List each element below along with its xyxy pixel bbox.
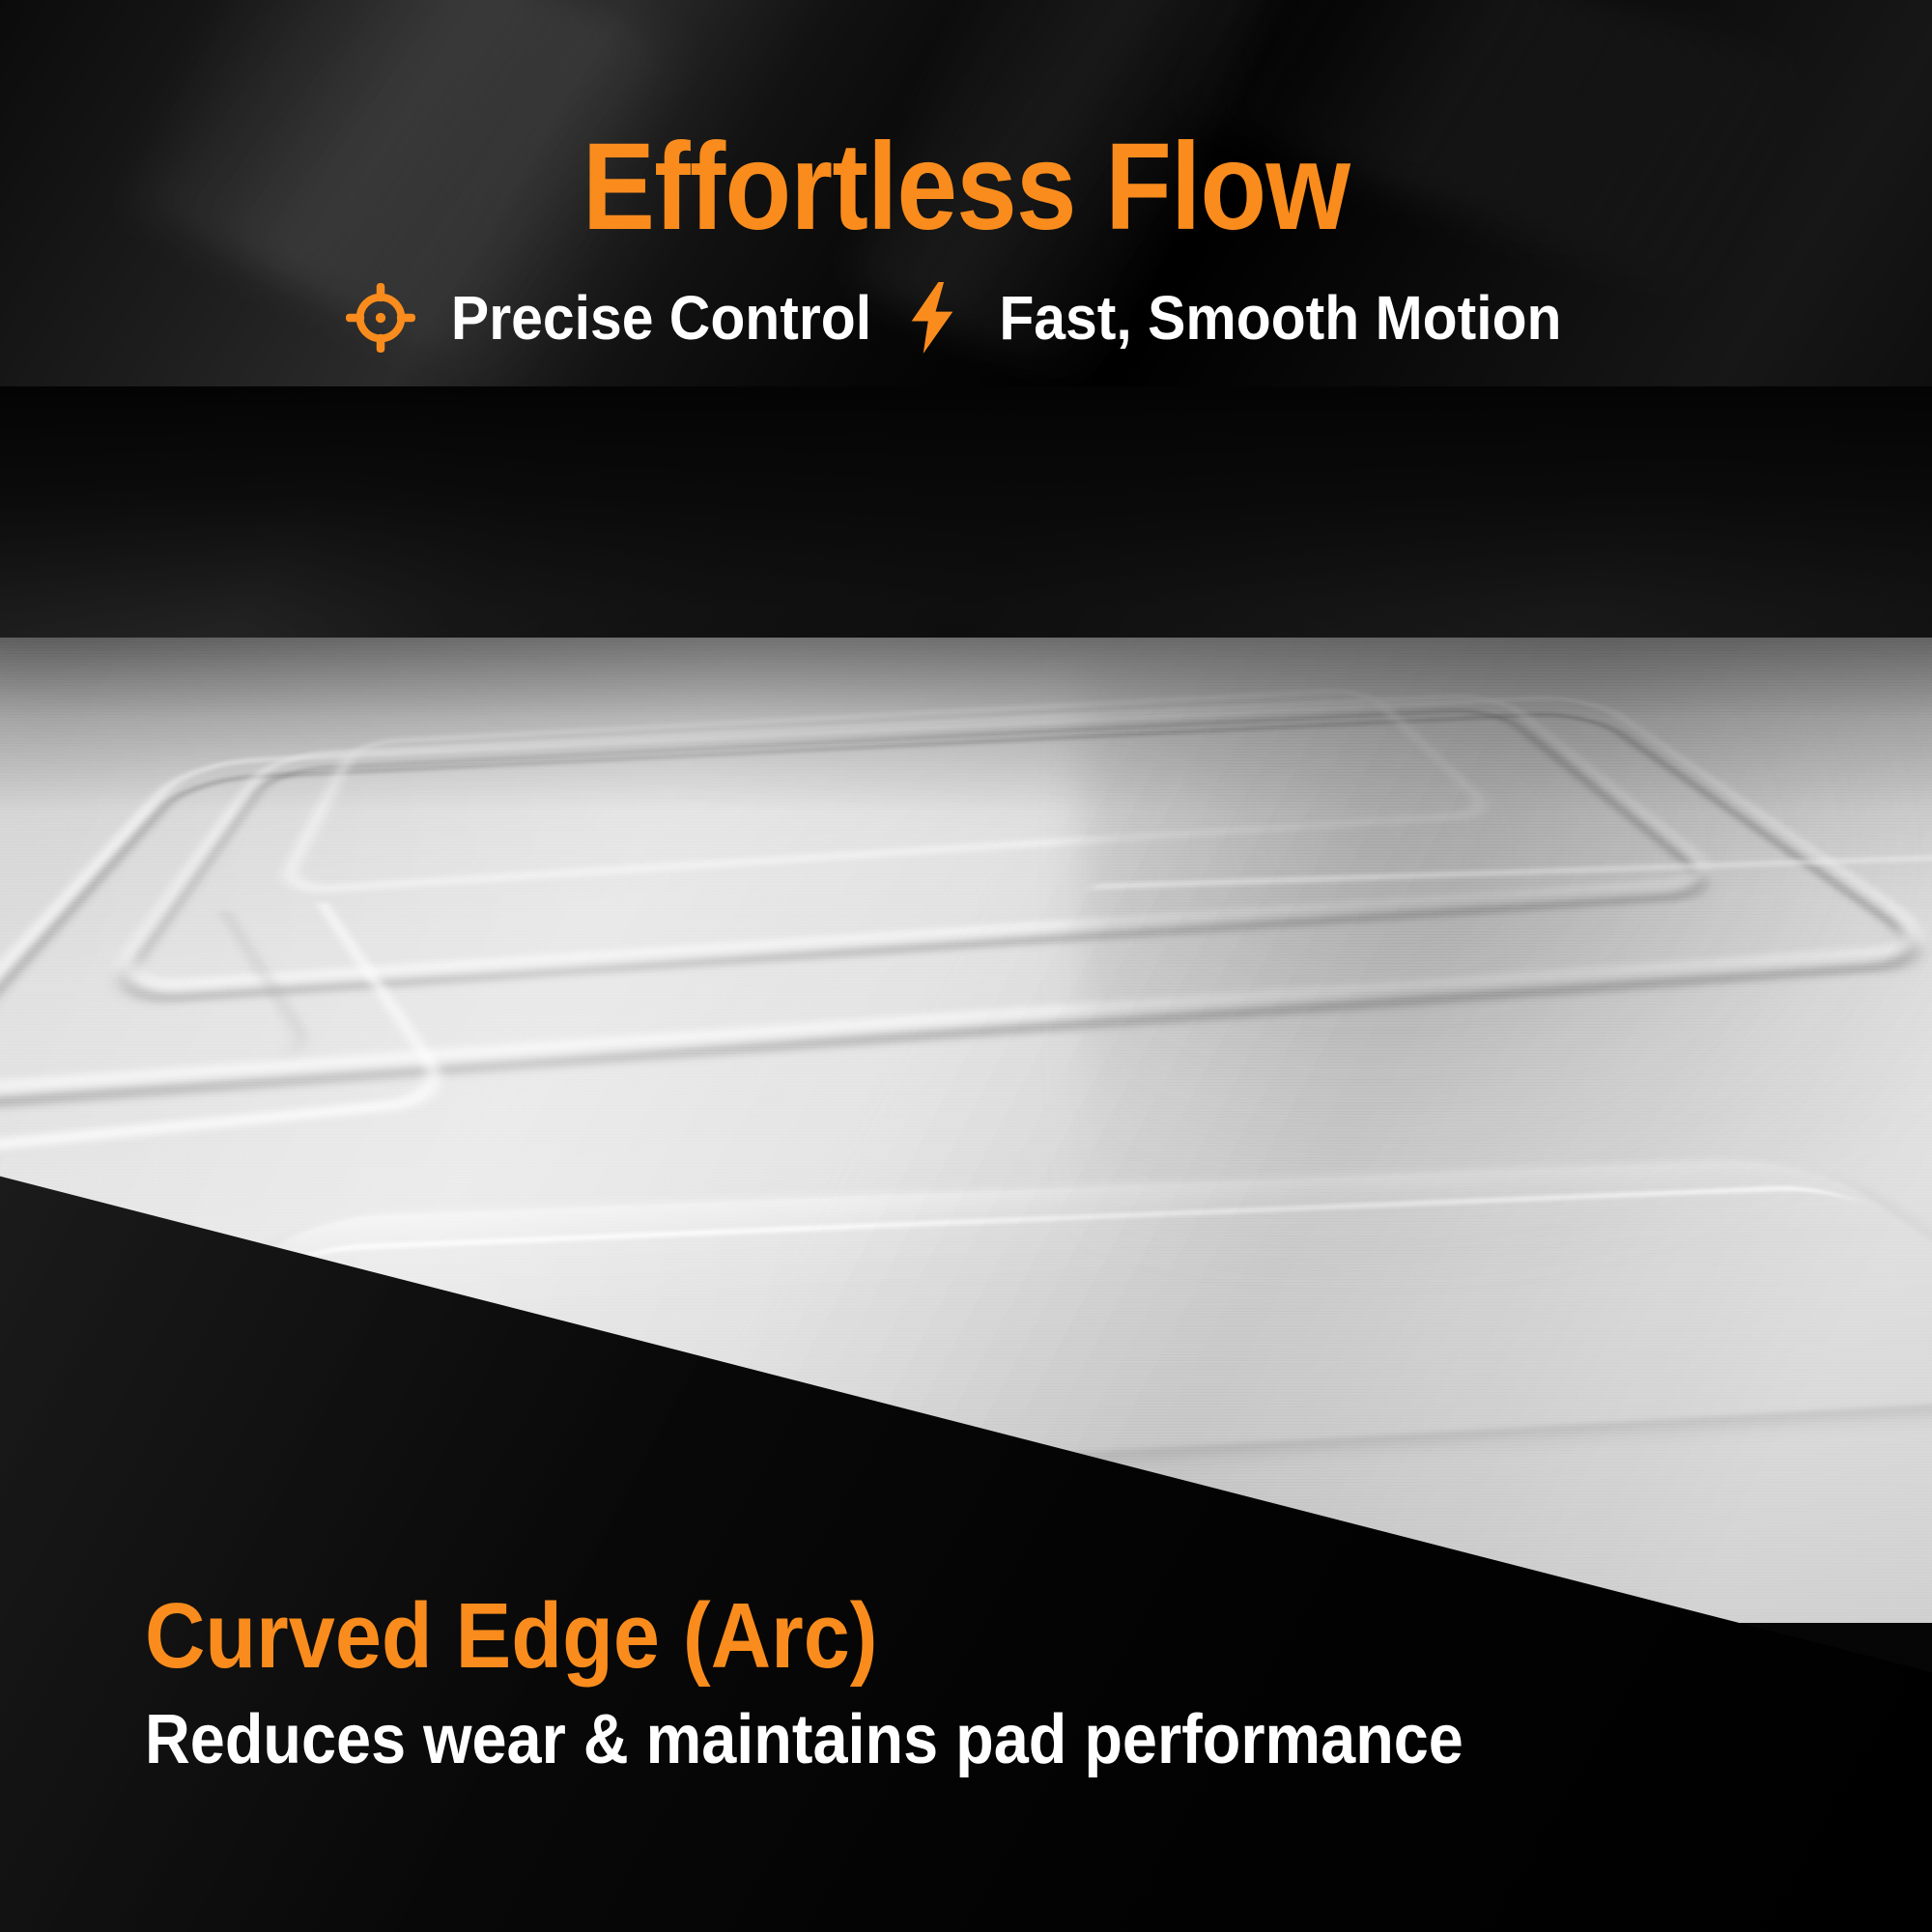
- header-fade-to-photo: [0, 386, 1932, 811]
- feature-label-fast-smooth-motion: Fast, Smooth Motion: [999, 282, 1561, 354]
- footer-title: Curved Edge (Arc): [145, 1589, 1463, 1684]
- feature-card: Effortless Flow Precise Control: [0, 0, 1932, 1932]
- page-title: Effortless Flow: [116, 0, 1816, 249]
- target-icon: [346, 283, 415, 353]
- footer-text-block: Curved Edge (Arc) Reduces wear & maintai…: [145, 1589, 1610, 1778]
- lightning-bolt-icon: [907, 282, 957, 354]
- hero-text-block: Effortless Flow Precise Control: [0, 0, 1932, 354]
- hero-subtitle-row: Precise Control Fast, Smooth Motion: [0, 249, 1932, 354]
- footer-description: Reduces wear & maintains pad performance: [145, 1704, 1463, 1777]
- feature-label-precise-control: Precise Control: [451, 282, 871, 354]
